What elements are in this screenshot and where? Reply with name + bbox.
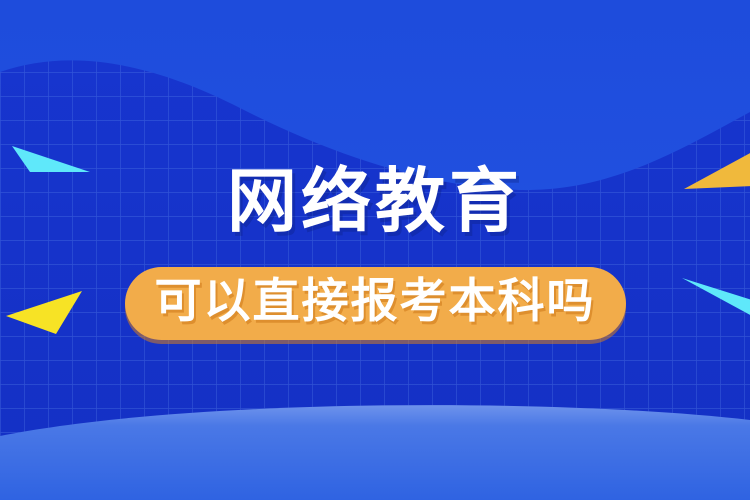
subtitle-container: 可以直接报考本科吗: [0, 267, 750, 340]
education-promo-banner: 网络教育 可以直接报考本科吗: [0, 0, 750, 500]
background-shapes: [0, 0, 750, 500]
banner-subtitle: 可以直接报考本科吗: [155, 276, 596, 329]
banner-title: 网络教育: [227, 166, 523, 236]
subtitle-pill: 可以直接报考本科吗: [125, 267, 626, 340]
title-container: 网络教育: [0, 166, 750, 236]
